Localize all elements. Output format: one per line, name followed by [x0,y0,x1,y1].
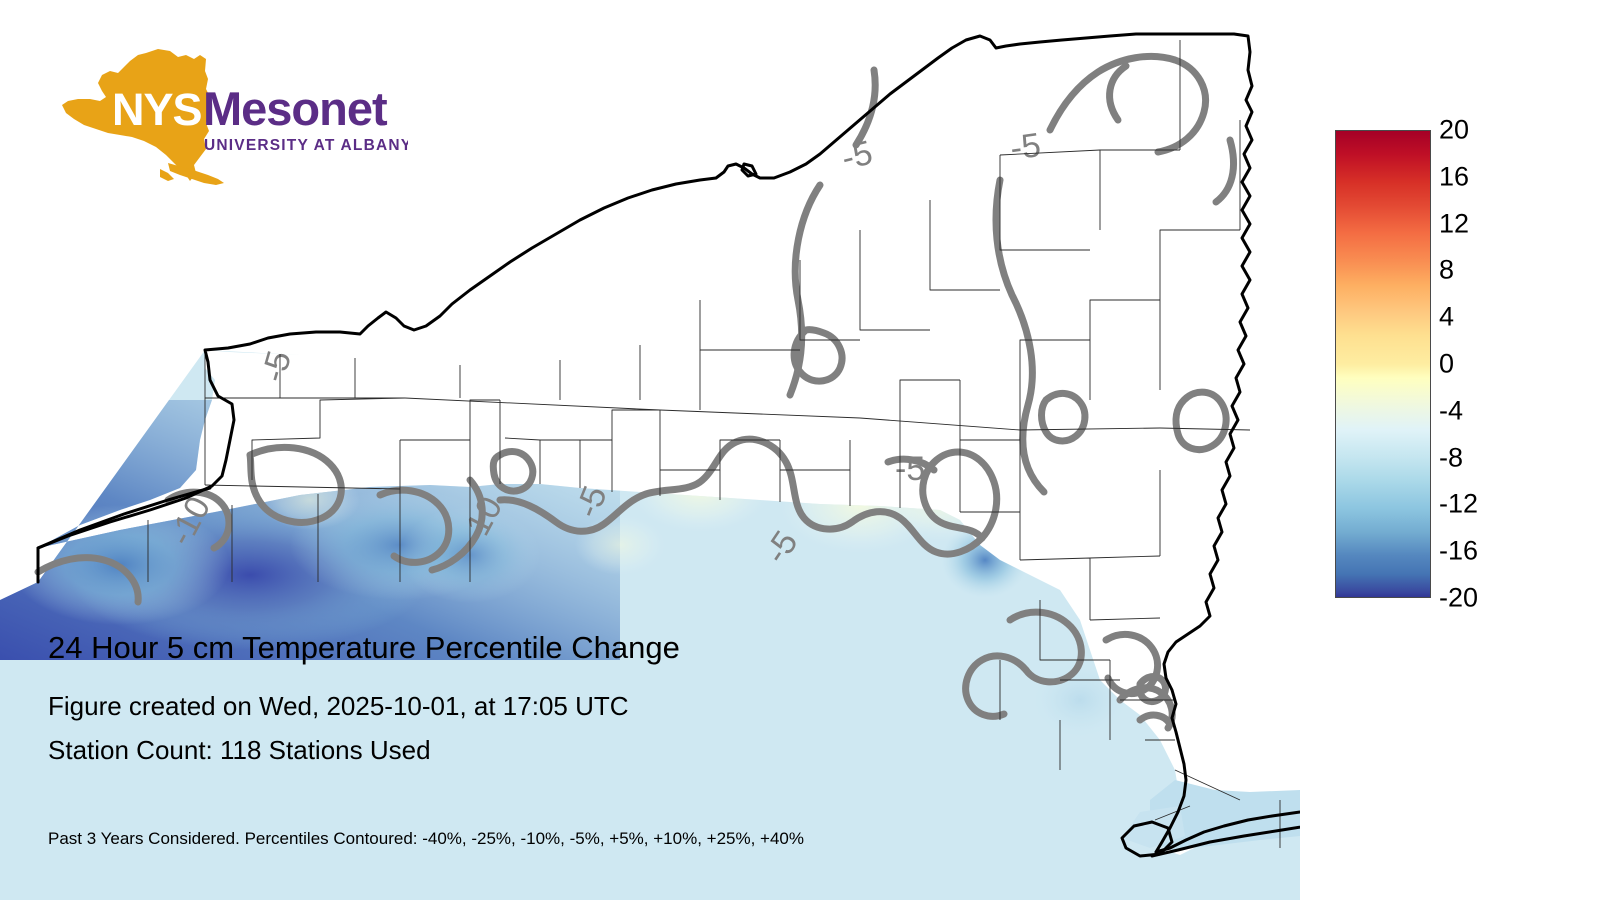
figure-root: -5 -5 -5 -5 -5 -5 -10 -10 [0,0,1600,900]
colorbar-tick-n8: -8 [1439,444,1463,471]
colorbar-ticks: 20 16 12 8 4 0 -4 -8 -12 -16 -20 [1439,130,1539,598]
svg-text:-5: -5 [895,450,925,488]
figure-created-line: Figure created on Wed, 2025-10-01, at 17… [48,684,1148,728]
svg-text:-5: -5 [254,347,299,387]
colorbar-tick-n20: -20 [1439,585,1478,612]
nys-mesonet-logo: NYS Mesonet UNIVERSITY AT ALBANY [48,45,408,190]
colorbar-tick-n16: -16 [1439,538,1478,565]
logo-subtitle: UNIVERSITY AT ALBANY [204,137,408,154]
colorbar-gradient [1335,130,1431,598]
figure-footnote: Past 3 Years Considered. Percentiles Con… [48,828,804,850]
colorbar-tick-n4: -4 [1439,397,1463,424]
logo-nys-text: NYS [112,84,202,135]
station-count-line: Station Count: 118 Stations Used [48,728,1148,772]
colorbar-tick-20: 20 [1439,117,1469,144]
colorbar-tick-n12: -12 [1439,491,1478,518]
colorbar: 20 16 12 8 4 0 -4 -8 -12 -16 -20 [1335,130,1431,598]
caption-block: 24 Hour 5 cm Temperature Percentile Chan… [48,628,1148,772]
svg-text:-5: -5 [1008,126,1043,168]
figure-title: 24 Hour 5 cm Temperature Percentile Chan… [48,628,1148,668]
colorbar-tick-16: 16 [1439,163,1469,190]
colorbar-tick-0: 0 [1439,351,1454,378]
logo-mesonet-text: Mesonet [203,82,388,135]
colorbar-tick-8: 8 [1439,257,1454,284]
colorbar-tick-12: 12 [1439,210,1469,237]
svg-text:-5: -5 [838,134,877,178]
colorbar-tick-4: 4 [1439,304,1454,331]
